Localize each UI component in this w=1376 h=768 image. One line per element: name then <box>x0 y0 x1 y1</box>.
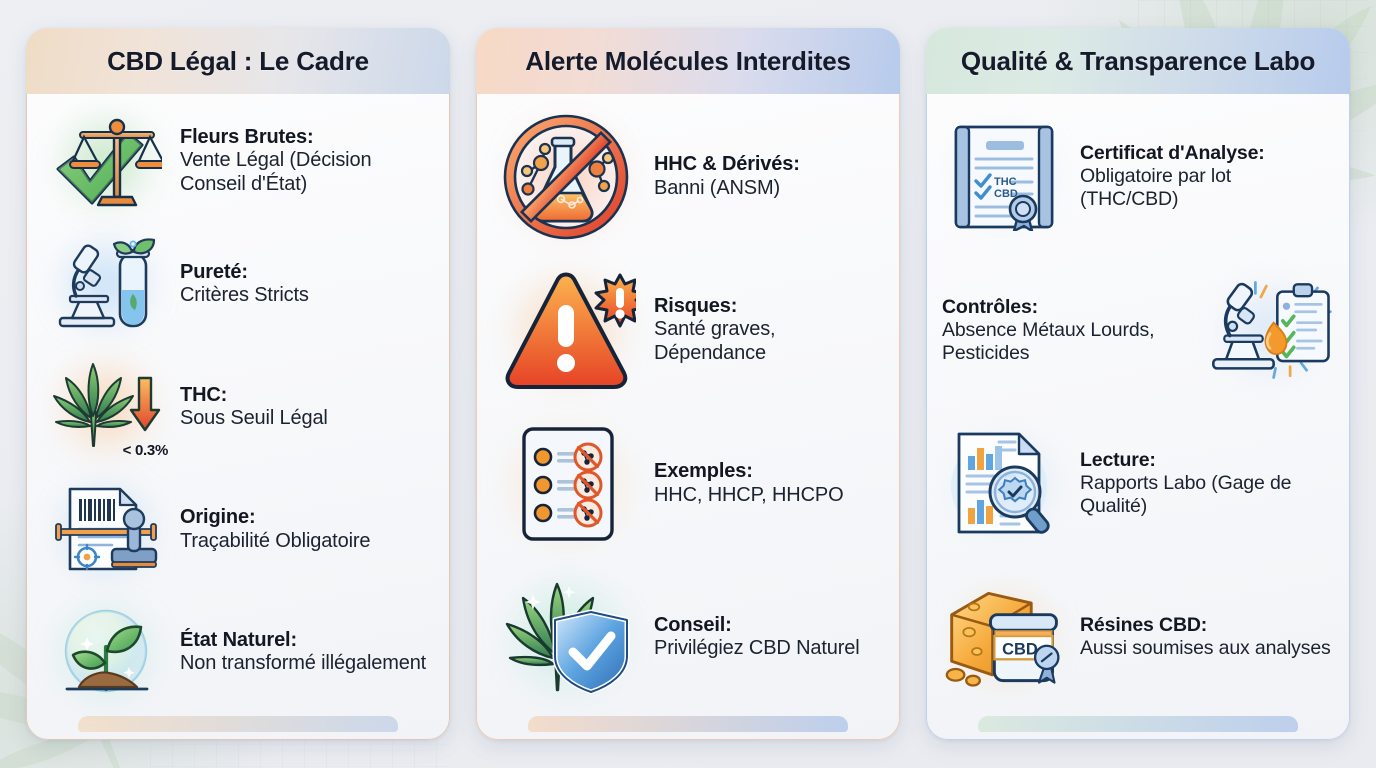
list-item-title: Conseil: <box>654 614 884 637</box>
list-item-text: Lecture: Rapports Labo (Gage de Qualité) <box>1080 449 1334 518</box>
list-item: Pureté: Critères Stricts <box>42 228 434 340</box>
card-header: Alerte Molécules Interdites <box>476 28 900 94</box>
no-entry-flask-molecule-icon <box>499 113 637 241</box>
list-item-desc: Aussi soumises aux analyses <box>1080 637 1334 660</box>
list-item-text: HHC & Dérivés: Banni (ANSM) <box>654 153 884 200</box>
list-item-text: Certificat d'Analyse: Obligatoire par lo… <box>1080 142 1334 211</box>
list-item: Fleurs Brutes: Vente Légal (Décision Con… <box>42 105 434 217</box>
list-item-text: Résines CBD: Aussi soumises aux analyses <box>1080 614 1334 660</box>
list-item-title: Contrôles: <box>942 296 1196 319</box>
list-item-desc: Critères Stricts <box>180 284 434 308</box>
icon-container <box>1206 274 1334 386</box>
list-item-desc: Non transformé illégalement <box>180 652 434 676</box>
list-item-text: Exemples: HHC, HHCP, HHCPO <box>654 460 884 507</box>
list-item: État Naturel: Non transformé illégalemen… <box>42 597 434 709</box>
list-item-desc: Santé graves, Dépendance <box>654 318 884 365</box>
icon-container <box>42 474 170 586</box>
icon-container <box>42 228 170 340</box>
card-body: HHC & Dérivés: Banni (ANSM) <box>476 94 900 716</box>
list-item-desc: Vente Légal (Décision Conseil d'État) <box>180 149 434 196</box>
card-header: CBD Légal : Le Cadre <box>26 28 450 94</box>
card-title: Qualité & Transparence Labo <box>961 46 1315 77</box>
resin-cbd-jar-icon: CBD <box>942 584 1070 690</box>
list-item-text: Conseil: Privilégiez CBD Naturel <box>654 614 884 661</box>
list-item: < 0.3% THC: Sous Seuil Légal <box>42 351 434 463</box>
list-item-text: Pureté: Critères Stricts <box>180 261 434 308</box>
card-title: CBD Légal : Le Cadre <box>107 46 369 77</box>
list-item: Origine: Traçabilité Obligatoire <box>42 474 434 586</box>
list-item-title: HHC & Dérivés: <box>654 153 884 176</box>
card-cbd-legal: CBD Légal : Le Cadre <box>26 28 450 740</box>
card-header: Qualité & Transparence Labo <box>926 28 1350 94</box>
list-item-text: Fleurs Brutes: Vente Légal (Décision Con… <box>180 126 434 196</box>
microscope-clipboard-droplet-icon <box>1206 274 1334 386</box>
list-item-title: Lecture: <box>1080 449 1334 472</box>
card-molecules-interdites: Alerte Molécules Interdites <box>476 28 900 740</box>
list-item-title: État Naturel: <box>180 629 434 652</box>
card-title: Alerte Molécules Interdites <box>525 46 850 77</box>
icon-container <box>492 264 644 396</box>
list-item: HHC & Dérivés: Banni (ANSM) <box>492 111 884 243</box>
icon-container <box>492 418 644 550</box>
leaf-shield-check-icon <box>499 576 637 698</box>
document-barcode-stamp-icon <box>50 483 162 577</box>
list-item-text: THC: Sous Seuil Légal <box>180 384 434 431</box>
list-item-desc: Obligatoire par lot (THC/CBD) <box>1080 165 1334 211</box>
icon-container <box>492 111 644 243</box>
list-item-text: Origine: Traçabilité Obligatoire <box>180 506 434 553</box>
thc-threshold-badge: < 0.3% <box>123 442 168 459</box>
list-item: Contrôles: Absence Métaux Lourds, Pestic… <box>942 274 1334 386</box>
list-item: THC CBD Certificat d'Analyse: Obligatoir… <box>942 121 1334 233</box>
list-item-title: Risques: <box>654 295 884 318</box>
list-item: CBD Résines CBD: Aussi soumises aux anal… <box>942 581 1334 693</box>
icon-container <box>492 571 644 703</box>
list-item-desc: Sous Seuil Légal <box>180 407 434 431</box>
list-item-desc: Absence Métaux Lourds, Pesticides <box>942 319 1196 365</box>
card-qualite-labo: Qualité & Transparence Labo <box>926 28 1350 740</box>
list-item-desc: Banni (ANSM) <box>654 177 884 201</box>
list-item: Exemples: HHC, HHCP, HHCPO <box>492 418 884 550</box>
card-body: THC CBD Certificat d'Analyse: Obligatoir… <box>926 94 1350 716</box>
card-footer-bar <box>528 716 848 732</box>
list-item-title: THC: <box>180 384 434 407</box>
list-item-desc: Traçabilité Obligatoire <box>180 530 434 554</box>
microscope-test-tube-icon <box>52 238 160 330</box>
certificate-label-thc: THC <box>994 176 1017 188</box>
cannabis-leaf-down-arrow-icon <box>51 362 161 452</box>
certificate-scroll-ribbon-icon: THC CBD <box>944 123 1068 231</box>
list-item: Conseil: Privilégiez CBD Naturel <box>492 571 884 703</box>
card-footer-bar <box>978 716 1298 732</box>
list-item-title: Résines CBD: <box>1080 614 1334 637</box>
list-item-title: Exemples: <box>654 460 884 483</box>
list-item-text: État Naturel: Non transformé illégalemen… <box>180 629 434 676</box>
icon-container: < 0.3% <box>42 351 170 463</box>
icon-container: THC CBD <box>942 121 1070 233</box>
banned-molecule-checklist-icon <box>510 423 626 545</box>
card-footer-bar <box>78 716 398 732</box>
jar-label-cbd: CBD <box>1002 641 1038 659</box>
infographic-board: CBD Légal : Le Cadre <box>0 0 1376 768</box>
icon-container: CBD <box>942 581 1070 693</box>
list-item-desc: Rapports Labo (Gage de Qualité) <box>1080 472 1334 518</box>
list-item: Lecture: Rapports Labo (Gage de Qualité) <box>942 428 1334 540</box>
list-item-desc: Privilégiez CBD Naturel <box>654 637 884 661</box>
scales-checkmark-icon <box>50 113 162 209</box>
icon-container <box>942 428 1070 540</box>
list-item: Risques: Santé graves, Dépendance <box>492 264 884 396</box>
lab-report-magnifier-icon <box>943 428 1069 540</box>
list-item-text: Contrôles: Absence Métaux Lourds, Pestic… <box>942 296 1196 365</box>
icon-container <box>42 105 170 217</box>
list-item-desc: HHC, HHCP, HHCPO <box>654 484 884 508</box>
list-item-title: Fleurs Brutes: <box>180 126 434 149</box>
icon-container <box>42 597 170 709</box>
list-item-title: Pureté: <box>180 261 434 284</box>
card-body: Fleurs Brutes: Vente Légal (Décision Con… <box>26 94 450 716</box>
list-item-text: Risques: Santé graves, Dépendance <box>654 295 884 365</box>
sprout-soil-icon <box>51 605 161 701</box>
warning-triangle-burst-icon <box>500 269 636 391</box>
list-item-title: Certificat d'Analyse: <box>1080 142 1334 165</box>
list-item-title: Origine: <box>180 506 434 529</box>
